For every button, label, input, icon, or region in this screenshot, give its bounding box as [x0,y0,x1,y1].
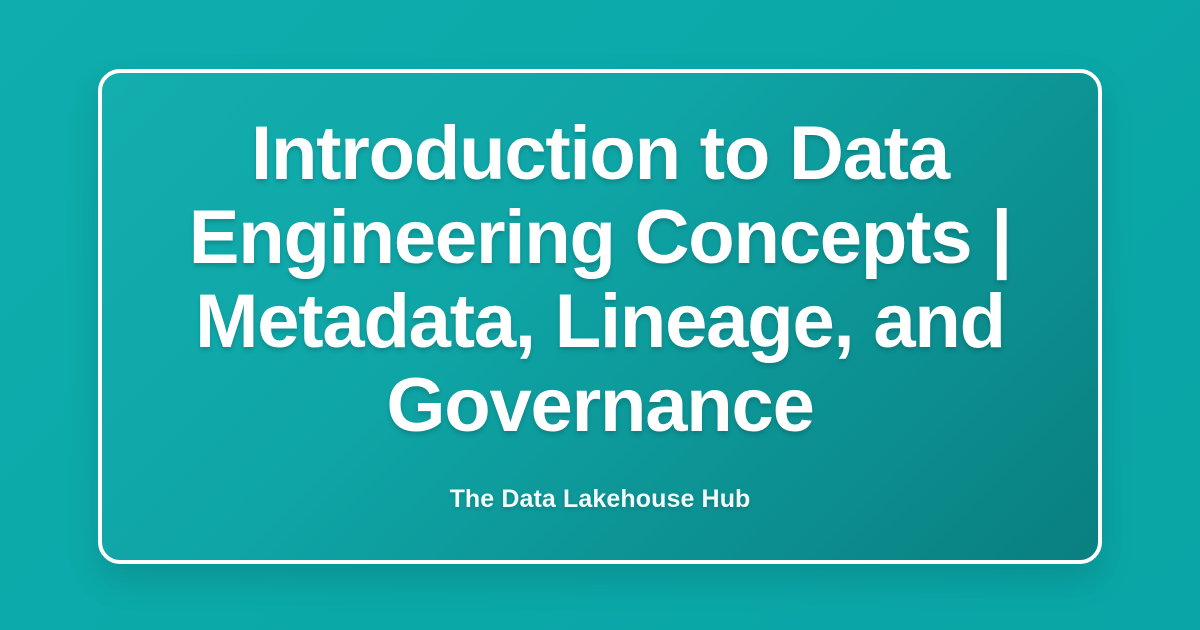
title-line-3: Metadata, Lineage, and [146,280,1054,364]
hero-card: Introduction to Data Engineering Concept… [98,69,1102,564]
title-line-4: Governance [146,364,1054,448]
page-title: Introduction to Data Engineering Concept… [146,112,1054,448]
og-image-canvas: Introduction to Data Engineering Concept… [0,0,1200,630]
site-name-subtitle: The Data Lakehouse Hub [450,484,751,514]
title-line-1: Introduction to Data [146,112,1054,196]
title-line-2: Engineering Concepts | [146,196,1054,280]
